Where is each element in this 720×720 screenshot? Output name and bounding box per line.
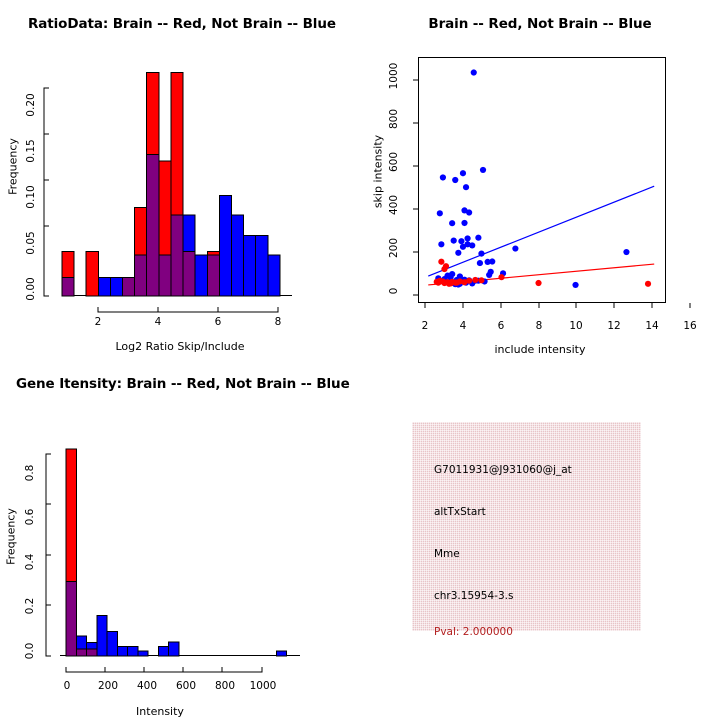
scatter-point <box>466 278 472 284</box>
scatter-point <box>438 259 444 265</box>
histogram-bar-segment <box>62 251 74 277</box>
scatter-point <box>512 245 518 251</box>
histogram-bar-segment <box>66 449 76 582</box>
histogram-bar-segment <box>219 195 231 296</box>
histogram-bar-overlap <box>66 582 76 656</box>
histogram-bar-segment <box>244 235 256 296</box>
scatter-point <box>443 263 449 269</box>
scatter-point <box>448 280 454 286</box>
scatter-point <box>440 174 446 180</box>
histogram-bar-segment <box>158 646 168 656</box>
histogram-bar-overlap <box>171 215 183 296</box>
histogram-bar-overlap <box>62 277 74 296</box>
histogram-bar-segment <box>76 636 86 649</box>
gene-symbol-text: Mme <box>434 548 460 560</box>
histogram-bar-overlap <box>147 154 159 296</box>
scatter-point <box>458 238 464 244</box>
ratio-histogram-svg <box>0 0 360 360</box>
scatter-point <box>478 277 484 283</box>
gene-id-text: G7011931@J931060@j_at <box>434 464 572 476</box>
scatter-point <box>437 210 443 216</box>
scatter-point <box>472 277 478 283</box>
ratio-histogram-panel: RatioData: Brain -- Red, Not Brain -- Bl… <box>0 0 360 360</box>
scatter-point <box>449 220 455 226</box>
histogram-bar-segment <box>171 73 183 215</box>
scatter-point <box>572 282 578 288</box>
gene-bars-group <box>66 449 287 656</box>
histogram-bar-segment <box>86 251 98 296</box>
scatter-point <box>460 170 466 176</box>
scatter-point <box>471 69 477 75</box>
scatter-point <box>449 271 455 277</box>
histogram-bar-overlap <box>207 255 219 296</box>
scatter-point <box>535 280 541 286</box>
scatter-point <box>645 281 651 287</box>
histogram-bar-segment <box>207 251 219 255</box>
histogram-bar-segment <box>107 631 117 656</box>
scatter-point <box>478 250 484 256</box>
histogram-bar-segment <box>87 643 97 649</box>
histogram-bar-segment <box>128 646 138 656</box>
histogram-bar-segment <box>169 642 179 656</box>
scatter-point <box>454 280 460 286</box>
histogram-bar-segment <box>97 616 107 656</box>
histogram-bar-segment <box>159 161 171 255</box>
scatter-point <box>463 184 469 190</box>
histogram-bar-overlap <box>76 649 86 656</box>
scatter-point <box>489 258 495 264</box>
event-type-text: altTxStart <box>434 506 486 518</box>
scatter-svg <box>360 0 720 360</box>
histogram-bar-segment <box>276 651 286 656</box>
scatter-point <box>460 244 466 250</box>
scatter-point <box>498 274 504 280</box>
scatter-points-group <box>434 69 651 288</box>
scatter-panel: Brain -- Red, Not Brain -- Blue skip int… <box>360 0 720 360</box>
histogram-bar-segment <box>195 255 207 296</box>
pval-text: Pval: 2.000000 <box>434 626 513 638</box>
histogram-bar-overlap <box>183 251 195 296</box>
scatter-point <box>480 167 486 173</box>
gene-info-box: G7011931@J931060@j_at altTxStart Mme chr… <box>412 422 641 631</box>
scatter-fit-lines-group <box>428 186 654 285</box>
scatter-point <box>452 177 458 183</box>
histogram-bar-overlap <box>123 277 135 296</box>
scatter-point <box>451 238 457 244</box>
scatter-point <box>475 235 481 241</box>
histogram-bar-segment <box>268 255 280 296</box>
ratio-bars-group <box>62 73 280 296</box>
histogram-bar-overlap <box>87 649 97 656</box>
histogram-bar-segment <box>147 73 159 155</box>
histogram-bar-segment <box>117 646 127 656</box>
scatter-point <box>434 279 440 285</box>
gene-histogram-panel: Gene Itensity: Brain -- Red, Not Brain -… <box>0 360 360 720</box>
histogram-bar-segment <box>135 208 147 255</box>
histogram-bar-segment <box>110 277 122 296</box>
histogram-bar-segment <box>98 277 110 296</box>
scatter-point <box>466 209 472 215</box>
scatter-point <box>455 250 461 256</box>
scatter-point <box>438 241 444 247</box>
histogram-bar-segment <box>138 651 148 656</box>
histogram-bar-overlap <box>135 255 147 296</box>
scatter-point <box>461 220 467 226</box>
histogram-bar-segment <box>256 235 268 296</box>
histogram-bar-overlap <box>159 255 171 296</box>
scatter-point <box>486 272 492 278</box>
info-panel: G7011931@J931060@j_at altTxStart Mme chr… <box>360 360 720 720</box>
locus-text: chr3.15954-3.s <box>434 590 513 602</box>
scatter-point <box>464 235 470 241</box>
scatter-point <box>623 249 629 255</box>
histogram-bar-segment <box>183 215 195 251</box>
histogram-bar-segment <box>231 215 243 296</box>
regression-line <box>428 186 654 276</box>
scatter-point <box>469 242 475 248</box>
gene-histogram-svg <box>0 360 360 720</box>
scatter-point <box>477 260 483 266</box>
